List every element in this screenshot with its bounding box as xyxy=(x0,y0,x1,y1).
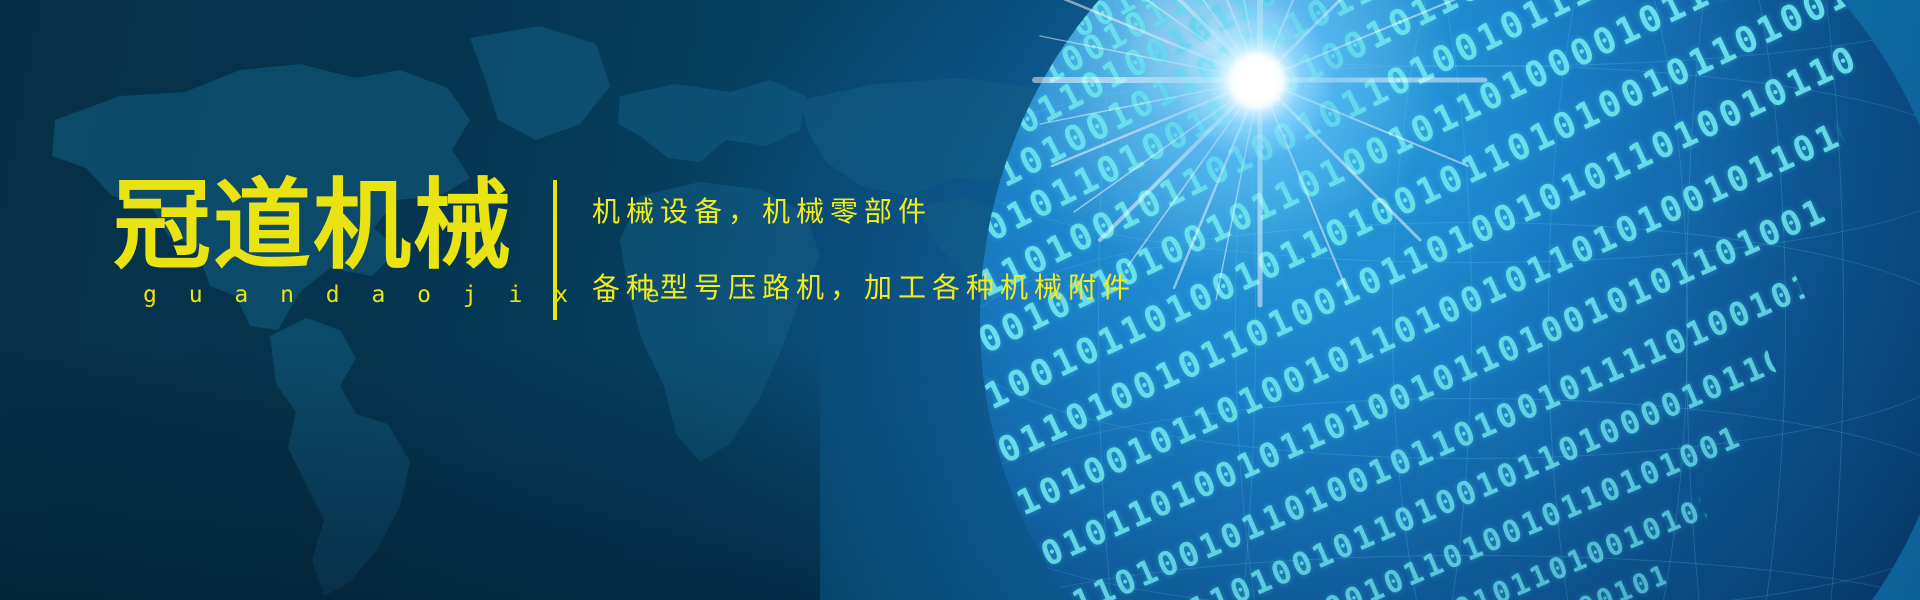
binary-digit-row: 1010010110100101101001011010100101101001… xyxy=(1235,560,1670,600)
banner-content: 冠道机械 g u a n d a o j i x i e 机械设备，机械零部件 … xyxy=(0,0,1200,600)
brand-name-cn: 冠道机械 xyxy=(113,176,669,276)
brand-name-pinyin: g u a n d a o j i x i e xyxy=(113,282,669,308)
brand-logo: 冠道机械 g u a n d a o j i x i e xyxy=(113,176,669,308)
hero-banner: 1001011010010110100101101010010110100101… xyxy=(0,0,1920,600)
vertical-divider xyxy=(553,180,557,320)
sun-flare-core-icon xyxy=(1228,52,1286,110)
tagline-line-2: 各种型号压路机，加工各种机械附件 xyxy=(592,266,1136,306)
tagline-line-1: 机械设备，机械零部件 xyxy=(592,190,1136,230)
tagline-block: 机械设备，机械零部件 各种型号压路机，加工各种机械附件 xyxy=(592,190,1136,306)
